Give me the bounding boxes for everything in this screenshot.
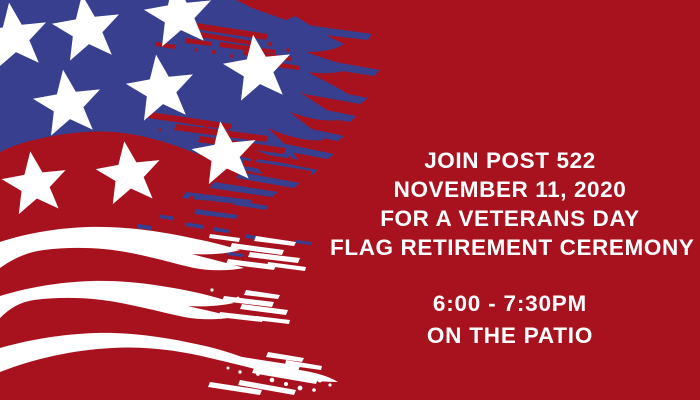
veterans-day-event-poster: JOIN POST 522 NOVEMBER 11, 2020 FOR A VE… [0,0,700,400]
headline-line-3: FOR A VETERANS DAY [330,204,690,233]
headline-line-2: NOVEMBER 11, 2020 [330,175,690,204]
headline-line-1: JOIN POST 522 [330,146,690,175]
headline-line-4: FLAG RETIREMENT CEREMONY [330,233,690,262]
headline-group: JOIN POST 522 NOVEMBER 11, 2020 FOR A VE… [330,146,690,262]
event-text-block: JOIN POST 522 NOVEMBER 11, 2020 FOR A VE… [330,0,700,400]
event-location: ON THE PATIO [330,320,690,352]
details-group: 6:00 - 7:30PM ON THE PATIO [330,288,690,352]
event-time: 6:00 - 7:30PM [330,288,690,320]
